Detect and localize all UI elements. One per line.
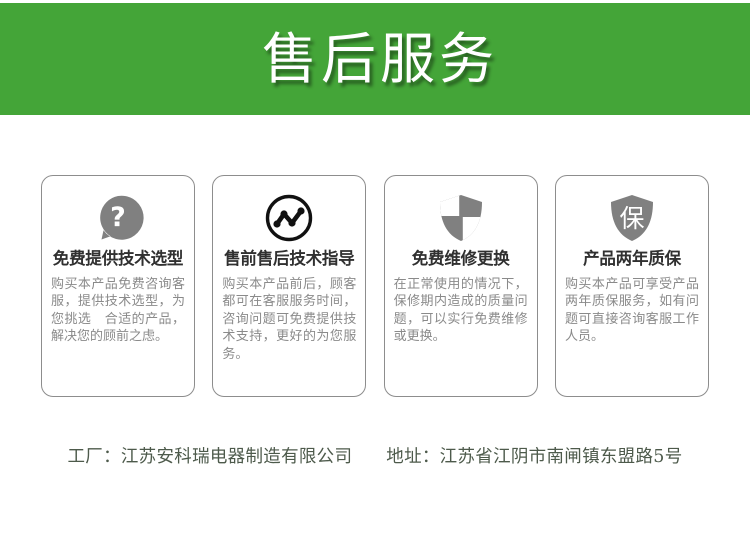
service-cards-row: ? 免费提供技术选型 购买本产品免费咨询客服，提供技术选型，为您挑选 合适的产品… [41,175,709,397]
service-card-body: 购买本产品可享受产品两年质保服务，如有问题可直接咨询客服工作人员。 [565,276,699,346]
service-card-body: 购买本产品免费咨询客服，提供技术选型，为您挑选 合适的产品，解决您的顾前之虑。 [51,276,185,346]
service-card-3: 免费维修更换 在正常使用的情况下，保修期内造成的质量问题，可以实行免费维修或更换… [384,175,538,397]
service-card-1: ? 免费提供技术选型 购买本产品免费咨询客服，提供技术选型，为您挑选 合适的产品… [41,175,195,397]
shield-bao-icon: 保 [604,190,660,246]
service-card-title: 售前售后技术指导 [224,250,354,269]
footer-contact-info: 工厂：江苏安科瑞电器制造有限公司 地址：江苏省江阴市南闸镇东盟路5号 [0,443,750,468]
page-title: 售后服务 [252,32,498,87]
service-card-title: 免费维修更换 [412,250,510,269]
service-card-body: 购买本产品前后，顾客都可在客服服务时间，咨询问题可免费提供技术支持，更好的为您服… [222,276,356,364]
footer-address-text: 地址：江苏省江阴市南闸镇东盟路5号 [386,443,682,468]
page-header-banner: 售后服务 [0,3,750,115]
service-card-body: 在正常使用的情况下，保修期内造成的质量问题，可以实行免费维修或更换。 [394,276,528,346]
service-card-2: 售前售后技术指导 购买本产品前后，顾客都可在客服服务时间，咨询问题可免费提供技术… [212,175,366,397]
svg-text:?: ? [110,202,126,233]
svg-text:保: 保 [619,204,644,233]
footer-factory-text: 工厂：江苏安科瑞电器制造有限公司 [67,443,352,468]
service-card-title: 免费提供技术选型 [53,250,183,269]
chart-line-circle-icon [261,190,317,246]
service-card-title: 产品两年质保 [583,250,681,269]
question-bubble-icon: ? [90,190,146,246]
service-card-4: 保 产品两年质保 购买本产品可享受产品两年质保服务，如有问题可直接咨询客服工作人… [555,175,709,397]
shield-quadrant-icon [433,190,489,246]
